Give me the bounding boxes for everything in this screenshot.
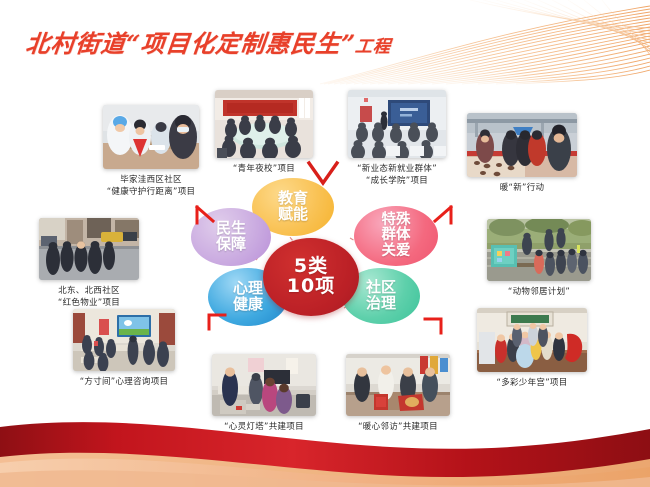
bracket-bottom-right [422,314,444,336]
node-center-line1: 5类 [287,257,335,277]
photo-image-health-guard [103,105,199,169]
node-center[interactable]: 5类 10项 [263,238,359,316]
poster-title: 北村街道“项目化定制惠民生”工程 [24,24,393,59]
photo-caption-psych-counseling: “方寸间”心理咨询项目 [57,376,191,388]
bracket-top-left [194,204,216,226]
node-special-care-line3: 关爱 [382,244,411,259]
photo-caption-warm-heart-visit: “暖心邻访”共建项目 [334,421,462,433]
photo-image-animal-neighbor [487,219,591,281]
poster-canvas: 北村街道“项目化定制惠民生”工程 [0,0,650,487]
photo-caption-red-property: 北东、北西社区 “红色物业”项目 [27,285,151,309]
node-center-line2: 10项 [287,277,335,297]
photo-caption-warm-new-action: 暖“新”行动 [462,182,582,194]
photo-card-animal-neighbor[interactable]: “动物邻居计划” [477,219,601,298]
chevron-down-icon [306,160,340,186]
photo-image-red-property [39,218,139,280]
node-community-governance-line2: 治理 [366,296,396,312]
node-livelihood-line2: 保障 [216,237,246,253]
photo-caption-soul-lighthouse: “心灵灯塔”共建项目 [200,421,328,433]
poster-title-main: 北村街道“项目化定制惠民生” [24,29,357,58]
photo-image-warm-new-action [467,113,577,177]
bracket-top-right [432,204,454,226]
photo-image-growth-academy [348,90,446,158]
photo-image-youth-night-school [215,90,313,158]
bracket-bottom-left [206,310,228,332]
poster-title-suffix: 工程 [354,37,392,57]
photo-caption-youth-night-school: “青年夜校”项目 [208,163,320,175]
node-education-line2: 赋能 [278,207,308,223]
photo-card-warm-new-action[interactable]: 暖“新”行动 [462,113,582,194]
node-special-care-line2: 群体 [382,228,411,243]
photo-caption-colorful-youth-palace: “多彩少年宫”项目 [467,377,597,389]
photo-image-psych-counseling [73,309,175,371]
node-special-care[interactable]: 特殊 群体 关爱 [354,206,438,266]
photo-caption-animal-neighbor: “动物邻居计划” [477,286,601,298]
photo-image-colorful-youth-palace [477,308,587,372]
node-mental-health-line2: 健康 [233,297,263,313]
photo-card-colorful-youth-palace[interactable]: “多彩少年宫”项目 [467,308,597,389]
photo-card-youth-night-school[interactable]: “青年夜校”项目 [208,90,320,175]
photo-card-growth-academy[interactable]: “新业态新就业群体” “成长学院”项目 [336,90,458,187]
photo-card-red-property[interactable]: 北东、北西社区 “红色物业”项目 [27,218,151,309]
